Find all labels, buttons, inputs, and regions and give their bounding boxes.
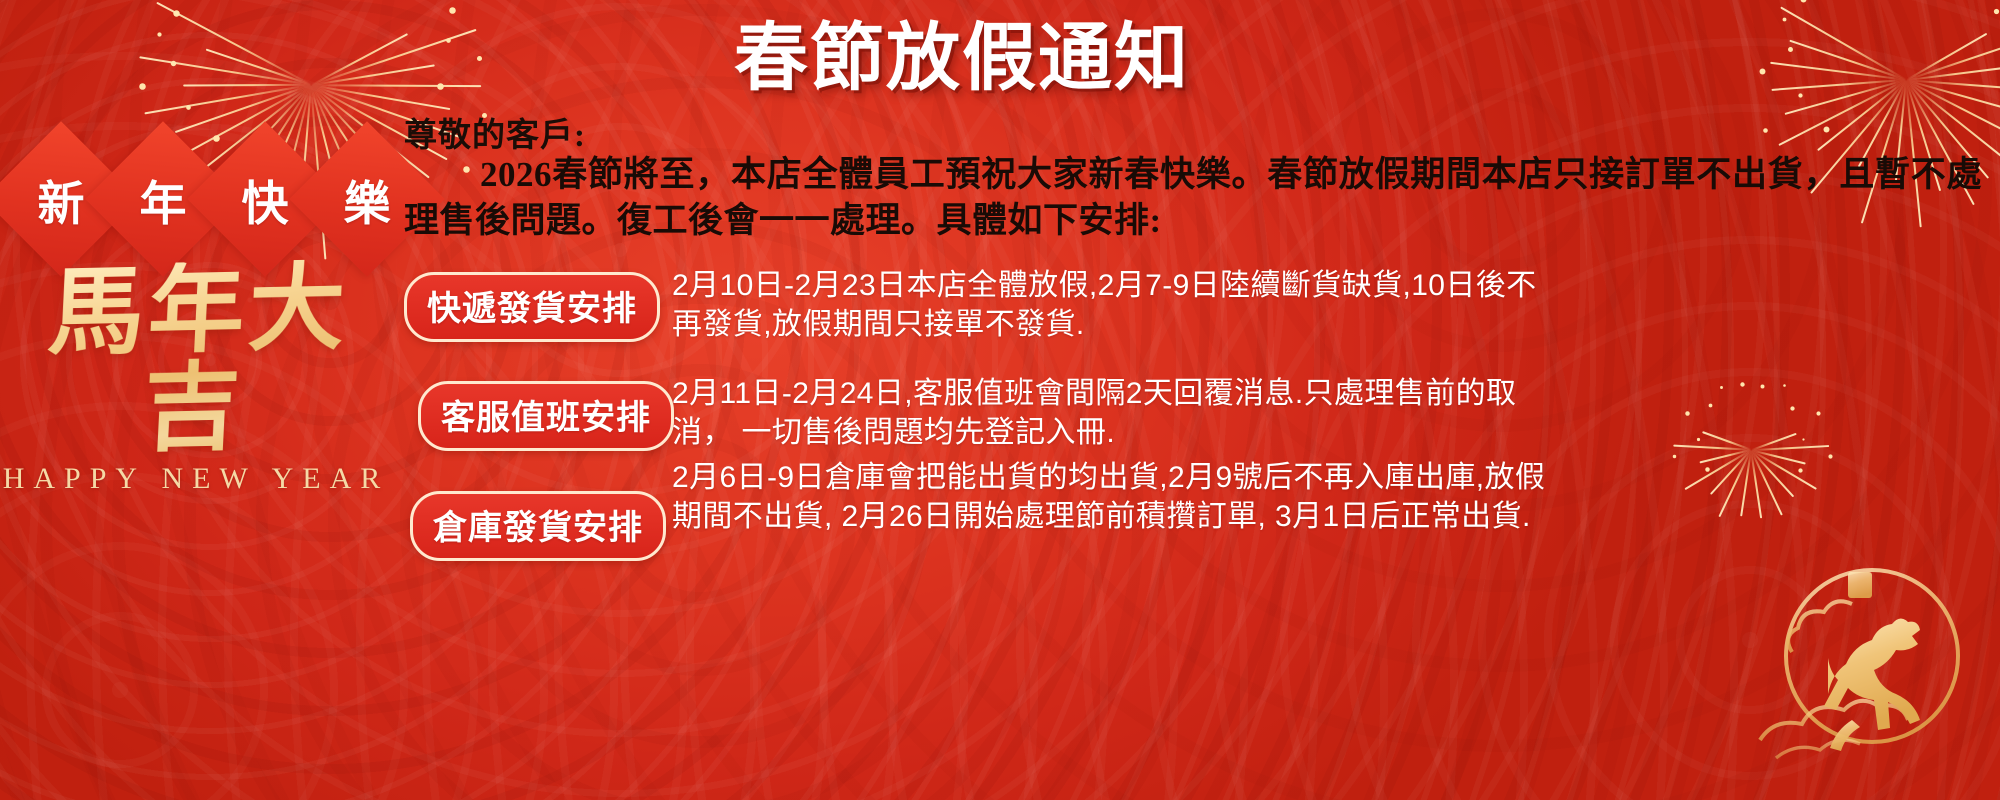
- happy-new-year-text: HAPPY NEW YEAR: [0, 462, 392, 496]
- badge-express-shipping: 快遞發貨安排: [404, 272, 660, 342]
- badge-label: 快遞發貨安排: [427, 281, 637, 330]
- spring-festival-holiday-notice-banner: 新 年 快 樂 馬年大吉 HAPPY NEW YEAR 春節放假通知 尊敬的客戶…: [0, 0, 2000, 800]
- diamond-label: 樂: [344, 165, 391, 234]
- gold-calligraphy-text: 馬年大吉: [0, 258, 397, 462]
- body-paragraph: 2026春節將至，本店全體員工預祝大家新春快樂。春節放假期間本店只接訂單不出貨，…: [404, 152, 1982, 244]
- diamond-label: 年: [140, 165, 187, 234]
- page-title: 春節放假通知: [612, 14, 1312, 103]
- salutation-text: 尊敬的客戶:: [404, 108, 586, 156]
- badge-label: 倉庫發貨安排: [433, 500, 643, 549]
- notice-text-warehouse: 2月6日-9日倉庫會把能出貨的均出貨,2月9號后不再入庫出庫,放假期間不出貨, …: [672, 458, 1552, 536]
- badge-customer-service: 客服值班安排: [418, 381, 674, 451]
- diamond-label: 快: [242, 165, 289, 234]
- notice-text-customer-service: 2月11日-2月24日,客服值班會間隔2天回覆消息.只處理售前的取消， 一切售後…: [672, 374, 1552, 452]
- badge-warehouse: 倉庫發貨安排: [410, 491, 666, 561]
- notice-text-shipping: 2月10日-2月23日本店全體放假,2月7-9日陸續斷貨缺貨,10日後不再發貨,…: [672, 266, 1552, 344]
- badge-label: 客服值班安排: [441, 390, 651, 439]
- diamond-label: 新: [38, 165, 85, 234]
- new-year-diamond-row: 新 年 快 樂: [6, 144, 414, 254]
